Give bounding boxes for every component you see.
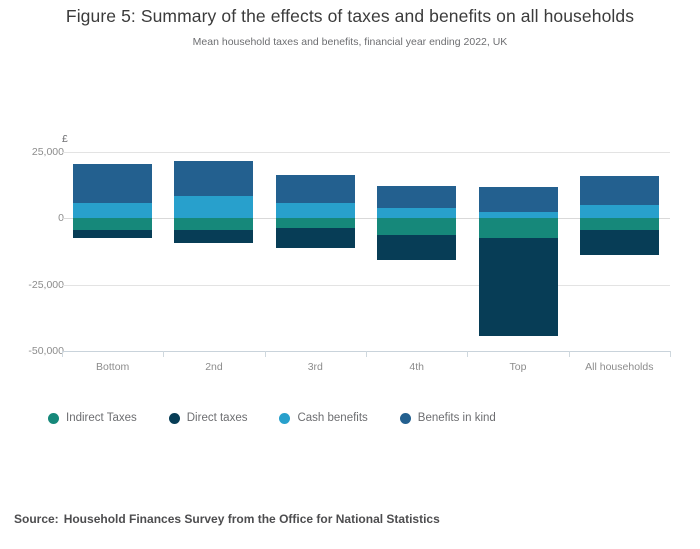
legend-item-direct-taxes[interactable]: Direct taxes [169, 412, 248, 424]
bar-segment-benefits-in-kind[interactable] [479, 187, 558, 212]
x-axis-tickmark [163, 351, 164, 357]
bar-segment-indirect-taxes[interactable] [580, 218, 659, 230]
bar-stack-all-households[interactable] [580, 0, 659, 360]
bar-segment-indirect-taxes[interactable] [377, 218, 456, 235]
x-axis-label-3rd: 3rd [265, 361, 366, 373]
bar-segment-cash-benefits[interactable] [174, 196, 253, 218]
x-axis-label-2nd: 2nd [163, 361, 264, 373]
legend-swatch-icon [400, 413, 411, 424]
source-text: Household Finances Survey from the Offic… [64, 512, 440, 526]
bar-segment-indirect-taxes[interactable] [73, 218, 152, 230]
bar-segment-direct-taxes[interactable] [377, 235, 456, 260]
legend-item-indirect-taxes[interactable]: Indirect Taxes [48, 412, 137, 424]
legend-swatch-icon [279, 413, 290, 424]
bar-segment-benefits-in-kind[interactable] [276, 175, 355, 203]
chart-legend: Indirect TaxesDirect taxesCash benefitsB… [48, 408, 528, 428]
y-axis-unit-label: £ [62, 133, 68, 145]
bar-stack-2nd[interactable] [174, 0, 253, 360]
legend-item-benefits-in-kind[interactable]: Benefits in kind [400, 412, 496, 424]
bar-segment-benefits-in-kind[interactable] [580, 176, 659, 205]
x-axis-tickmark [569, 351, 570, 357]
legend-item-cash-benefits[interactable]: Cash benefits [279, 412, 367, 424]
bar-segment-cash-benefits[interactable] [377, 208, 456, 218]
source-note: Source:Household Finances Survey from th… [14, 512, 440, 526]
x-axis-label-4th: 4th [366, 361, 467, 373]
bar-segment-indirect-taxes[interactable] [479, 218, 558, 238]
bar-segment-direct-taxes[interactable] [174, 230, 253, 243]
bar-segment-benefits-in-kind[interactable] [377, 186, 456, 208]
bar-segment-direct-taxes[interactable] [580, 230, 659, 255]
bar-stack-4th[interactable] [377, 0, 456, 360]
legend-label: Cash benefits [297, 412, 367, 424]
x-axis-label-bottom: Bottom [62, 361, 163, 373]
y-axis-tick-label-2: -25,000 [0, 279, 64, 291]
bar-segment-direct-taxes[interactable] [479, 238, 558, 336]
source-label: Source: [14, 512, 59, 526]
x-axis-tickmark [670, 351, 671, 357]
bar-segment-cash-benefits[interactable] [73, 203, 152, 218]
bar-chart-plot-area [62, 152, 670, 351]
bar-segment-indirect-taxes[interactable] [174, 218, 253, 230]
x-axis-label-top: Top [467, 361, 568, 373]
legend-label: Direct taxes [187, 412, 248, 424]
legend-label: Benefits in kind [418, 412, 496, 424]
bar-stack-3rd[interactable] [276, 0, 355, 360]
y-axis-tick-label-1: 0 [0, 212, 64, 224]
x-axis-tickmark [265, 351, 266, 357]
bar-segment-benefits-in-kind[interactable] [73, 164, 152, 203]
bar-segment-cash-benefits[interactable] [580, 205, 659, 218]
legend-swatch-icon [48, 413, 59, 424]
x-axis-tickmark [467, 351, 468, 357]
legend-label: Indirect Taxes [66, 412, 137, 424]
bar-segment-benefits-in-kind[interactable] [174, 161, 253, 196]
y-axis-tick-label-3: -50,000 [0, 345, 64, 357]
bar-segment-indirect-taxes[interactable] [276, 218, 355, 228]
bar-stack-top[interactable] [479, 0, 558, 360]
bar-stack-bottom[interactable] [73, 0, 152, 360]
legend-swatch-icon [169, 413, 180, 424]
x-axis-tickmark [366, 351, 367, 357]
bar-segment-cash-benefits[interactable] [276, 203, 355, 218]
bar-segment-direct-taxes[interactable] [73, 230, 152, 238]
x-axis-tickmark [62, 351, 63, 357]
bar-segment-direct-taxes[interactable] [276, 228, 355, 248]
y-axis-tick-label-0: 25,000 [0, 146, 64, 158]
x-axis-label-all-households: All households [569, 361, 670, 373]
